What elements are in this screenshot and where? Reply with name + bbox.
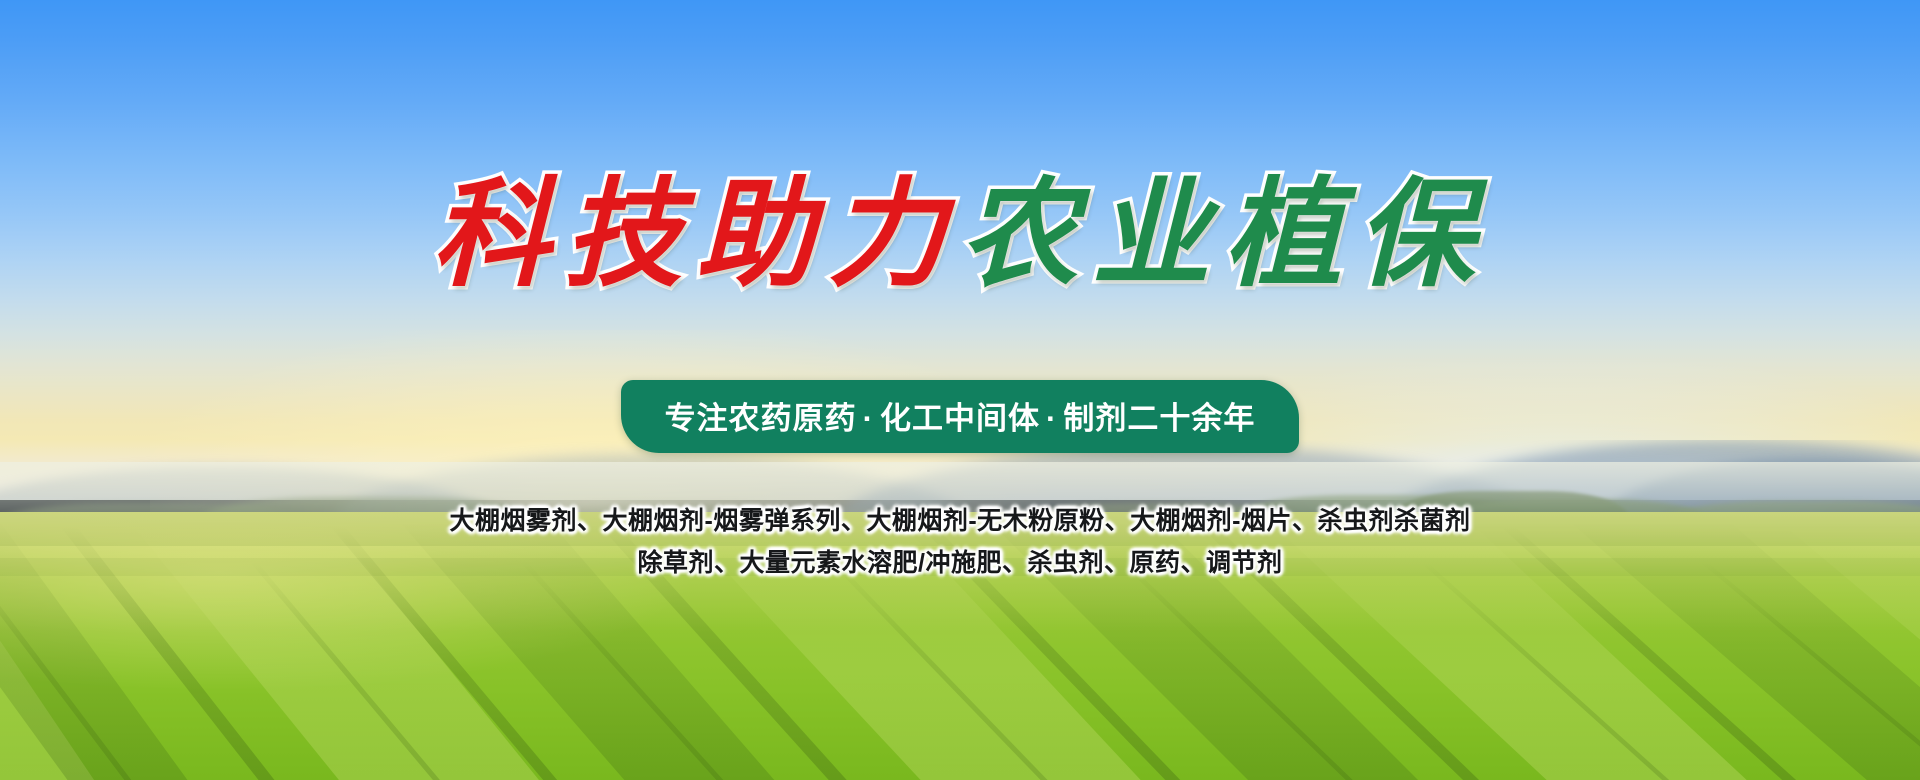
badge-part-2: 化工中间体	[880, 401, 1040, 436]
badge-part-1: 专注农药原药	[665, 401, 857, 436]
hero-banner: 科技助力农业植保 专注农药原药·化工中间体·制剂二十余年 大棚烟雾剂、大棚烟剂-…	[0, 0, 1920, 780]
subtitle-badge: 专注农药原药·化工中间体·制剂二十余年	[621, 380, 1300, 453]
badge-part-3: 制剂二十余年	[1063, 401, 1255, 436]
green-field	[0, 512, 1920, 780]
badge-separator-1: ·	[857, 401, 880, 436]
subtitle-badge-container: 专注农药原药·化工中间体·制剂二十余年	[0, 380, 1920, 453]
badge-separator-2: ·	[1040, 401, 1063, 436]
